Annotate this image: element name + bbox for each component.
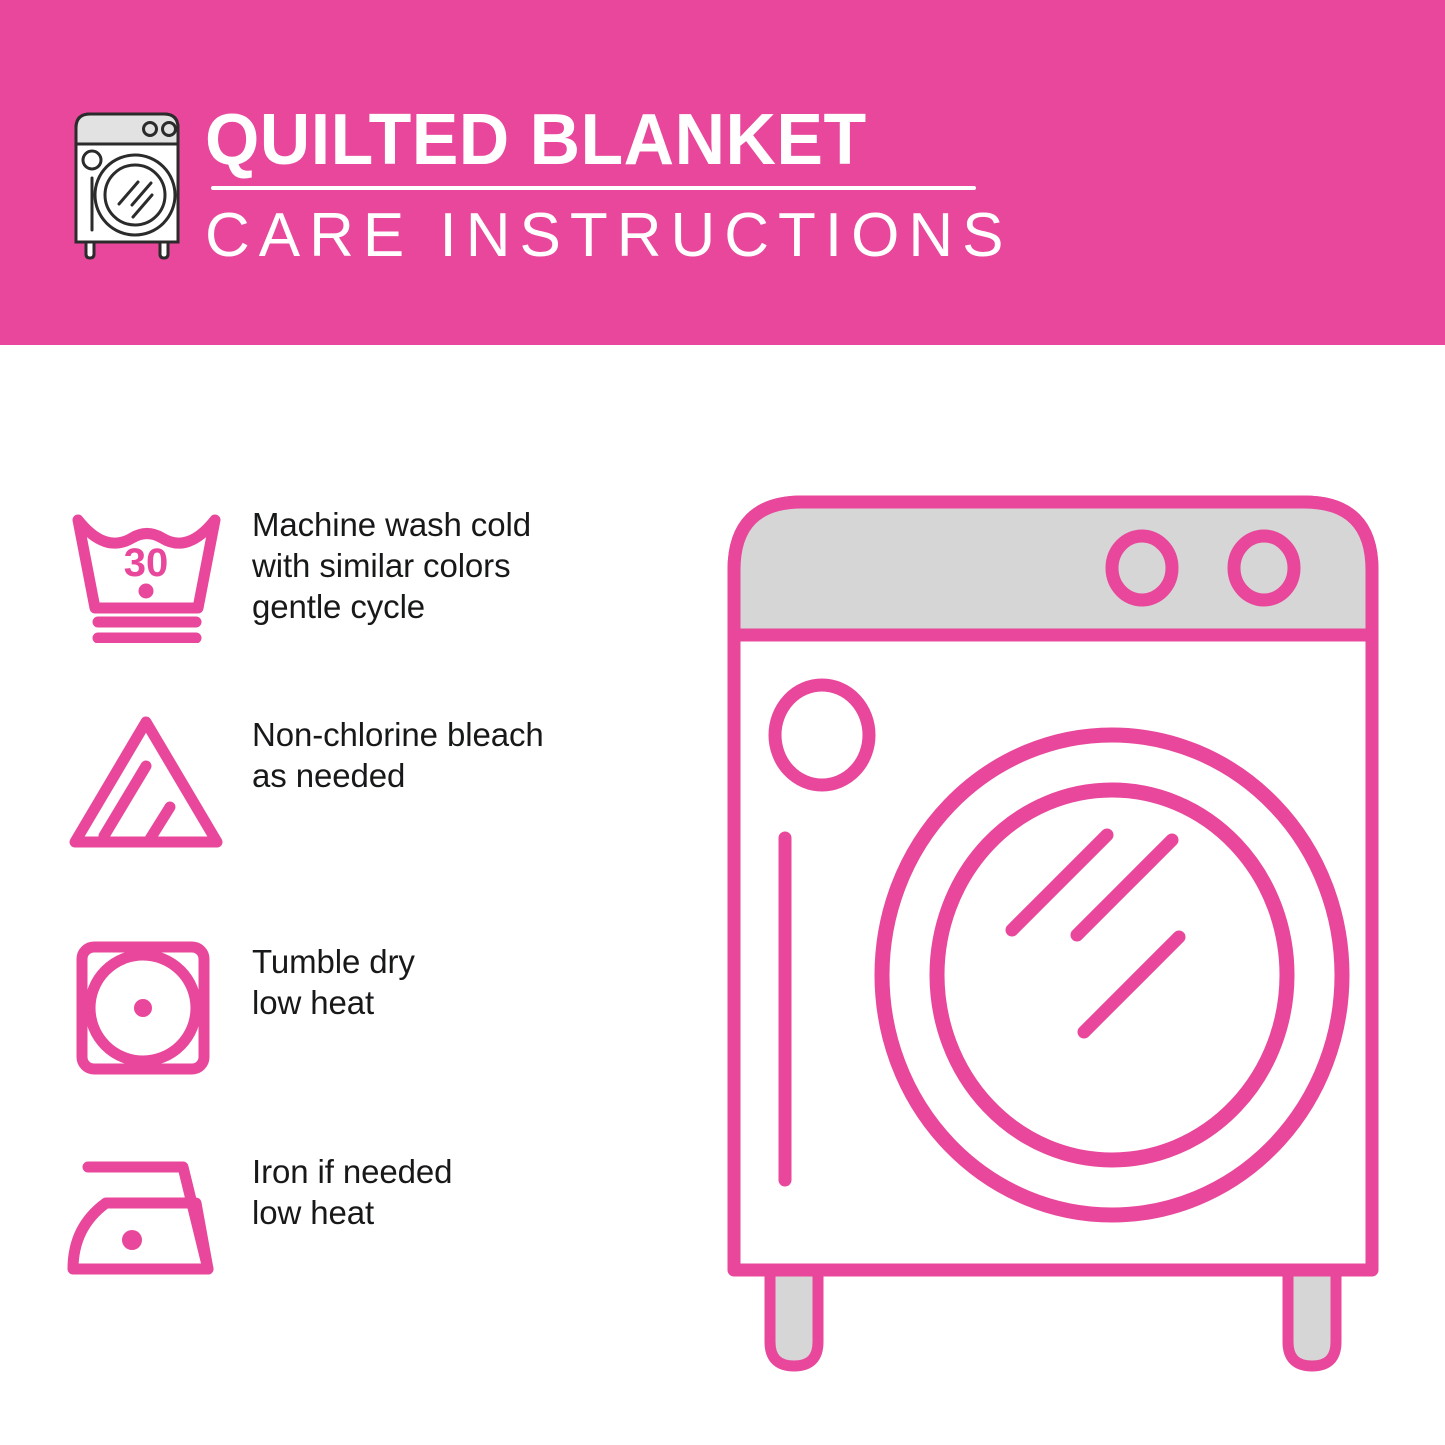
washing-machine-illustration: [712, 480, 1392, 1380]
care-row-machine-wash: 30 Machine wash cold with similar colors…: [60, 498, 680, 648]
care-instructions-list: 30 Machine wash cold with similar colors…: [0, 0, 700, 1445]
tumble-dry-icon: [60, 935, 235, 1085]
bleach-triangle-icon: [60, 708, 235, 858]
machine-indicator-circle: [775, 685, 869, 785]
machine-knob-2: [1234, 536, 1294, 600]
machine-knob-1: [1112, 536, 1172, 600]
care-text-iron: Iron if needed low heat: [252, 1145, 452, 1233]
care-row-bleach: Non-chlorine bleach as needed: [60, 708, 680, 858]
care-text-tumble-dry: Tumble dry low heat: [252, 935, 415, 1023]
machine-door-inner: [937, 790, 1287, 1160]
care-text-machine-wash: Machine wash cold with similar colors ge…: [252, 498, 531, 627]
wash-temperature-label: 30: [124, 541, 169, 585]
care-row-iron: Iron if needed low heat: [60, 1145, 680, 1295]
machine-leg-right: [1288, 1270, 1336, 1366]
wash-tub-30-icon: 30: [60, 498, 235, 648]
care-row-tumble-dry: Tumble dry low heat: [60, 935, 680, 1085]
care-text-bleach: Non-chlorine bleach as needed: [252, 708, 544, 796]
machine-leg-left: [770, 1270, 818, 1366]
iron-icon: [60, 1145, 235, 1295]
